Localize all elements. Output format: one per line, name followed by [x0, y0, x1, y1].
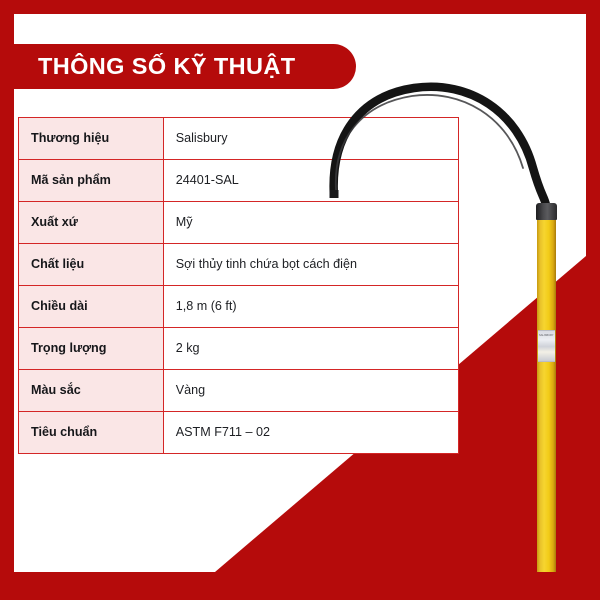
pole-sticker-label: SALISBURY [538, 330, 555, 362]
fiberglass-pole-icon [537, 206, 556, 600]
spec-value-origin: Mỹ [163, 202, 458, 244]
spec-label-color: Màu sắc [19, 370, 164, 412]
pole-sticker-text: SALISBURY [538, 331, 555, 338]
table-row: Xuất xứ Mỹ [19, 202, 459, 244]
spec-sheet-canvas: SALISBURY THÔNG SỐ KỸ THUẬT Thương hiệu … [0, 0, 600, 600]
page-title: THÔNG SỐ KỸ THUẬT [0, 55, 295, 79]
table-row: Trọng lượng 2 kg [19, 328, 459, 370]
specification-table: Thương hiệu Salisbury Mã sản phẩm 24401-… [18, 117, 459, 454]
spec-value-standard: ASTM F711 – 02 [163, 412, 458, 454]
table-row: Tiêu chuẩn ASTM F711 – 02 [19, 412, 459, 454]
spec-label-material: Chất liệu [19, 244, 164, 286]
spec-label-product-code: Mã sản phẩm [19, 160, 164, 202]
spec-value-length: 1,8 m (6 ft) [163, 286, 458, 328]
frame-border-left [0, 0, 14, 600]
spec-value-material: Sợi thủy tinh chứa bọt cách điện [163, 244, 458, 286]
spec-value-color: Vàng [163, 370, 458, 412]
table-row: Màu sắc Vàng [19, 370, 459, 412]
frame-border-right [586, 0, 600, 600]
spec-label-weight: Trọng lượng [19, 328, 164, 370]
specification-table-body: Thương hiệu Salisbury Mã sản phẩm 24401-… [19, 118, 459, 454]
spec-value-weight: 2 kg [163, 328, 458, 370]
table-row: Thương hiệu Salisbury [19, 118, 459, 160]
table-row: Chất liệu Sợi thủy tinh chứa bọt cách đi… [19, 244, 459, 286]
frame-border-top [0, 0, 600, 14]
table-row: Chiều dài 1,8 m (6 ft) [19, 286, 459, 328]
spec-value-product-code: 24401-SAL [163, 160, 458, 202]
spec-label-brand: Thương hiệu [19, 118, 164, 160]
table-row: Mã sản phẩm 24401-SAL [19, 160, 459, 202]
ferrule-cap-icon [536, 203, 557, 220]
title-banner: THÔNG SỐ KỸ THUẬT [0, 44, 356, 89]
spec-label-standard: Tiêu chuẩn [19, 412, 164, 454]
spec-label-origin: Xuất xứ [19, 202, 164, 244]
frame-border-bottom [0, 572, 600, 600]
spec-value-brand: Salisbury [163, 118, 458, 160]
spec-label-length: Chiều dài [19, 286, 164, 328]
